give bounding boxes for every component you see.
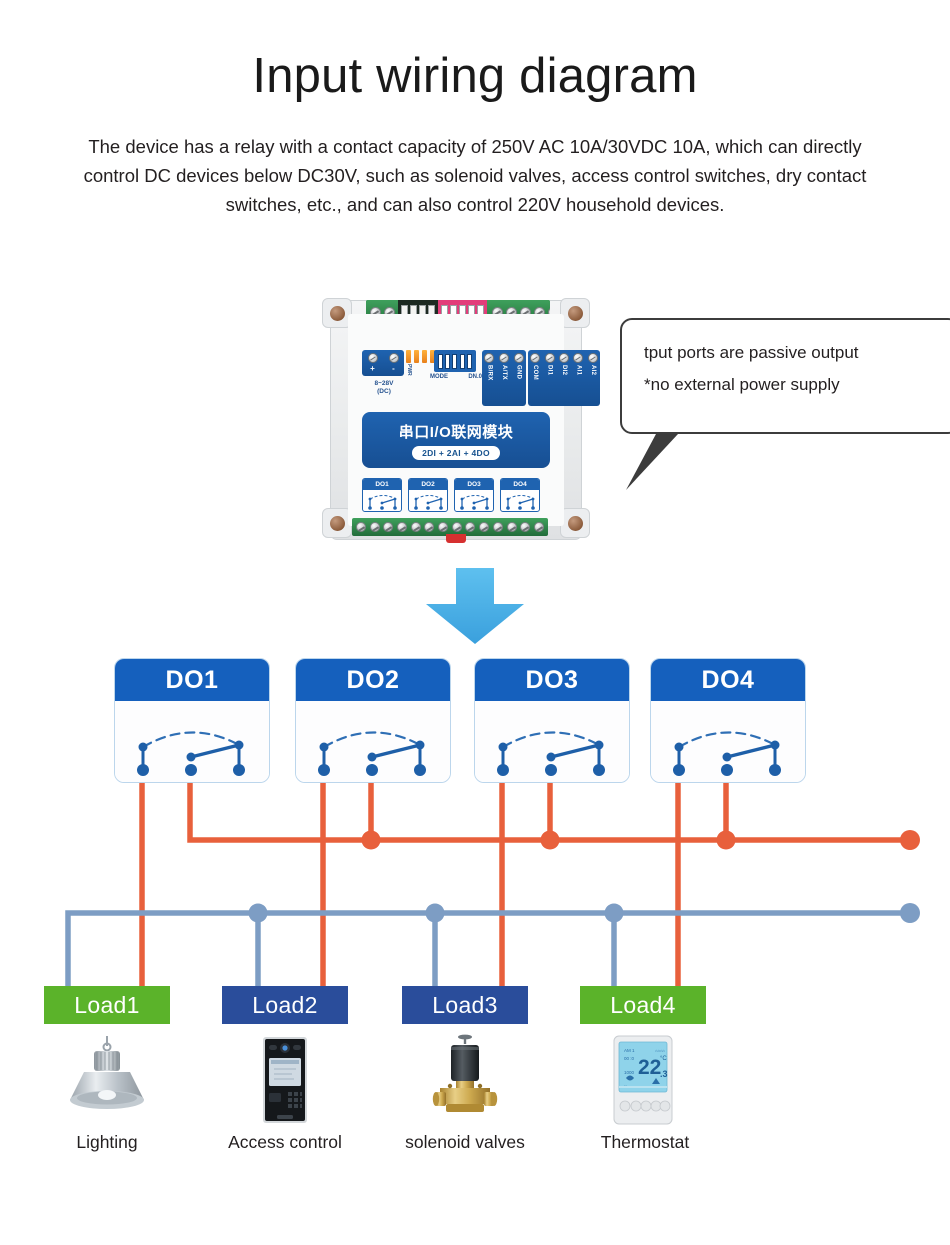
junction-blue-1 <box>249 904 268 923</box>
wiring-diagram-page: Input wiring diagram The device has a re… <box>0 0 950 1245</box>
svg-text:⌂⌂⌂⌂: ⌂⌂⌂⌂ <box>655 1048 665 1053</box>
caption-thermostat: Thermostat <box>555 1132 735 1153</box>
junction-orange-3 <box>717 831 736 850</box>
caption-access-control: Access control <box>195 1132 375 1153</box>
junction-blue-3 <box>605 904 624 923</box>
svg-text:°C: °C <box>660 1056 667 1062</box>
junction-orange-1 <box>362 831 381 850</box>
solenoid-valve-icon <box>402 1034 528 1126</box>
caption-lighting: Lighting <box>17 1132 197 1153</box>
wire-blue-bus <box>68 913 910 989</box>
junction-orange-2 <box>541 831 560 850</box>
terminal-blue-end <box>900 903 920 923</box>
load-label-1[interactable]: Load1 <box>44 986 170 1024</box>
load-label-2[interactable]: Load2 <box>222 986 348 1024</box>
load-label-3[interactable]: Load3 <box>402 986 528 1024</box>
svg-text:00 :0: 00 :0 <box>624 1056 635 1061</box>
lighting-lamp-icon <box>44 1034 170 1126</box>
thermostat-temperature: 22 <box>638 1056 661 1079</box>
thermostat-icon: AM 1 00 :0 1000 % ⌂⌂⌂⌂ 22 .3 °C <box>580 1034 706 1126</box>
svg-text:1000: 1000 <box>624 1070 635 1075</box>
caption-solenoid-valves: solenoid valves <box>375 1132 555 1153</box>
junction-blue-2 <box>426 904 445 923</box>
svg-text:.3: .3 <box>660 1069 668 1079</box>
terminal-orange-end <box>900 830 920 850</box>
load-label-4[interactable]: Load4 <box>580 986 706 1024</box>
thermostat-mode-text: AM 1 <box>624 1048 635 1053</box>
access-control-icon <box>222 1034 348 1126</box>
